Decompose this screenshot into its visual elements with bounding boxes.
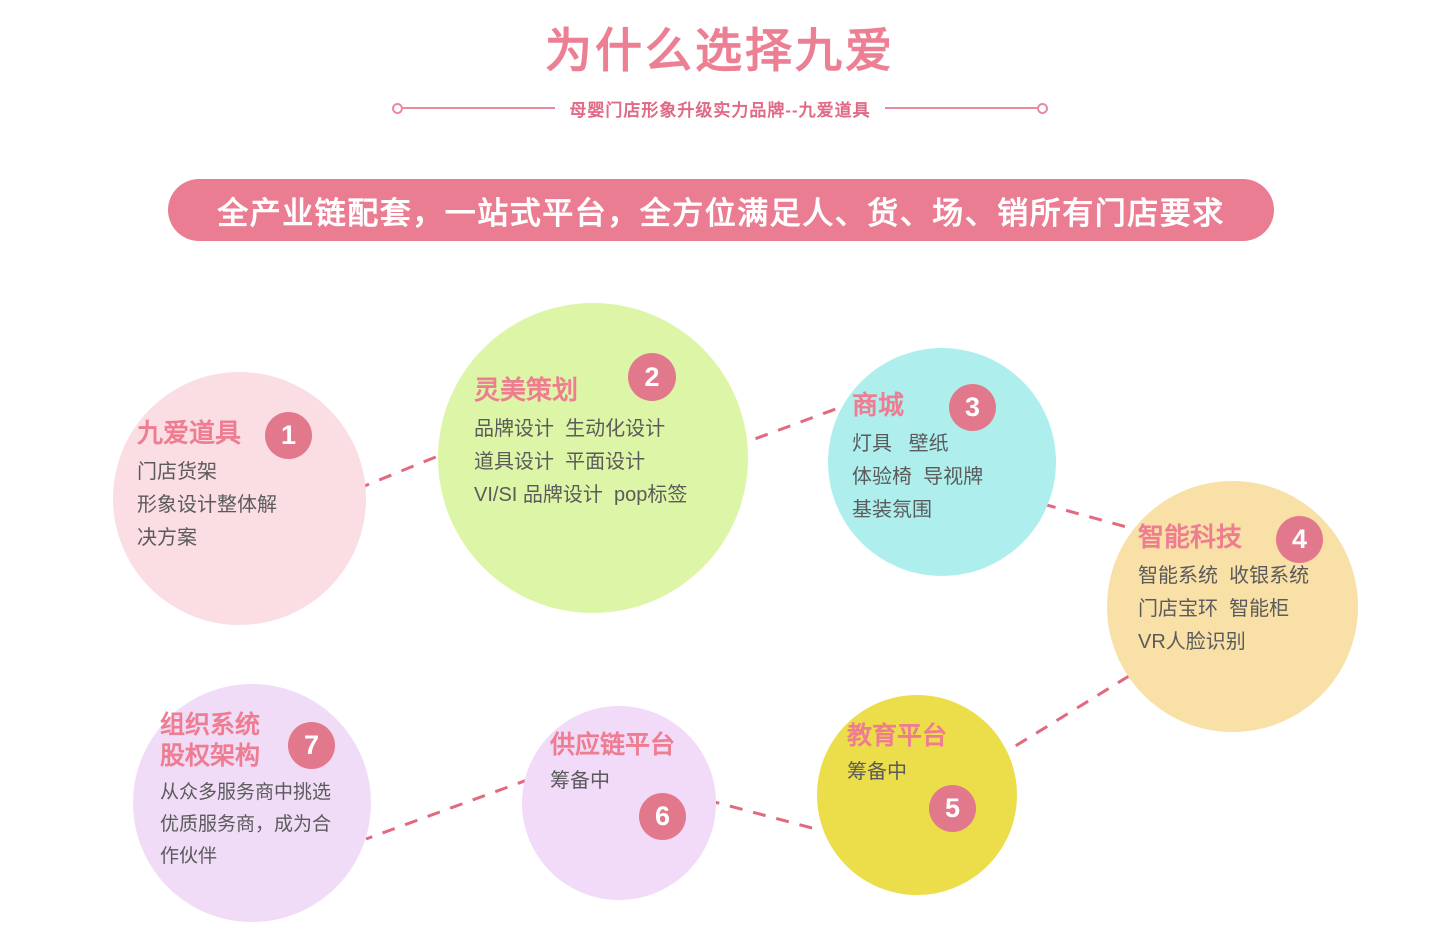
node-7-lines: 从众多服务商中挑选 优质服务商，成为合 作伙伴 <box>160 777 331 873</box>
node-7-line-2: 优质服务商，成为合 <box>160 809 331 841</box>
node-1-lines: 门店货架 形象设计整体解 决方案 <box>137 456 277 555</box>
node-2-lingmei-planning[interactable]: 灵美策划 品牌设计 生动化设计 道具设计 平面设计 VI/SI 品牌设计 pop… <box>438 303 748 613</box>
infographic-page: 为什么选择九爱 母婴门店形象升级实力品牌--九爱道具 全产业链配套，一站式平台，… <box>0 0 1440 948</box>
node-2-line-1: 品牌设计 生动化设计 <box>474 413 687 446</box>
node-6-number-badge: 6 <box>639 793 686 840</box>
node-5-content: 教育平台 筹备中 <box>847 721 947 789</box>
node-3-line-2: 体验椅 导视牌 <box>852 461 983 494</box>
node-5-line-1: 筹备中 <box>847 756 947 789</box>
node-6-lines: 筹备中 <box>550 765 675 798</box>
node-4-lines: 智能系统 收银系统 门店宝环 智能柜 VR人脸识别 <box>1138 560 1309 659</box>
node-3-mall[interactable]: 商城 灯具 壁纸 体验椅 导视牌 基装氛围 3 <box>828 348 1056 576</box>
node-4-smart-technology[interactable]: 智能科技 智能系统 收银系统 门店宝环 智能柜 VR人脸识别 4 <box>1107 481 1358 732</box>
connector-4-5 <box>1004 676 1129 753</box>
node-5-lines: 筹备中 <box>847 756 947 789</box>
node-7-line-3: 作伙伴 <box>160 841 331 873</box>
node-3-line-1: 灯具 壁纸 <box>852 428 983 461</box>
node-4-number-badge: 4 <box>1276 516 1323 563</box>
node-2-line-3: VI/SI 品牌设计 pop标签 <box>474 479 687 512</box>
node-2-number-badge: 2 <box>628 353 676 401</box>
node-1-line-3: 决方案 <box>137 522 277 555</box>
node-7-line-1: 从众多服务商中挑选 <box>160 777 331 809</box>
connector-6-7 <box>366 779 530 839</box>
node-6-title: 供应链平台 <box>550 730 675 761</box>
node-4-line-2: 门店宝环 智能柜 <box>1138 593 1309 626</box>
node-7-number-badge: 7 <box>288 722 335 769</box>
node-3-lines: 灯具 壁纸 体验椅 导视牌 基装氛围 <box>852 428 983 527</box>
node-3-line-3: 基装氛围 <box>852 494 983 527</box>
node-1-title: 九爱道具 <box>137 418 277 450</box>
node-6-supply-chain-platform[interactable]: 供应链平台 筹备中 6 <box>522 706 716 900</box>
node-1-jiuai-props[interactable]: 九爱道具 门店货架 形象设计整体解 决方案 1 <box>113 372 366 625</box>
node-5-number-badge: 5 <box>929 785 976 832</box>
node-5-education-platform[interactable]: 教育平台 筹备中 5 <box>817 695 1017 895</box>
node-1-number-badge: 1 <box>265 412 312 459</box>
node-7-organization-equity[interactable]: 组织系统 股权架构 从众多服务商中挑选 优质服务商，成为合 作伙伴 7 <box>133 684 371 922</box>
node-2-line-2: 道具设计 平面设计 <box>474 446 687 479</box>
node-1-line-1: 门店货架 <box>137 456 277 489</box>
node-5-title: 教育平台 <box>847 721 947 752</box>
circle-flow-diagram: 九爱道具 门店货架 形象设计整体解 决方案 1 灵美策划 品牌设计 生动化设计 … <box>0 0 1440 948</box>
node-6-line-1: 筹备中 <box>550 765 675 798</box>
node-4-line-1: 智能系统 收银系统 <box>1138 560 1309 593</box>
node-3-number-badge: 3 <box>949 384 996 431</box>
node-6-content: 供应链平台 筹备中 <box>550 730 675 798</box>
connector-5-6 <box>707 800 812 828</box>
node-1-content: 九爱道具 门店货架 形象设计整体解 决方案 <box>137 418 277 555</box>
node-1-line-2: 形象设计整体解 <box>137 489 277 522</box>
node-4-line-3: VR人脸识别 <box>1138 626 1309 659</box>
node-2-lines: 品牌设计 生动化设计 道具设计 平面设计 VI/SI 品牌设计 pop标签 <box>474 413 687 512</box>
